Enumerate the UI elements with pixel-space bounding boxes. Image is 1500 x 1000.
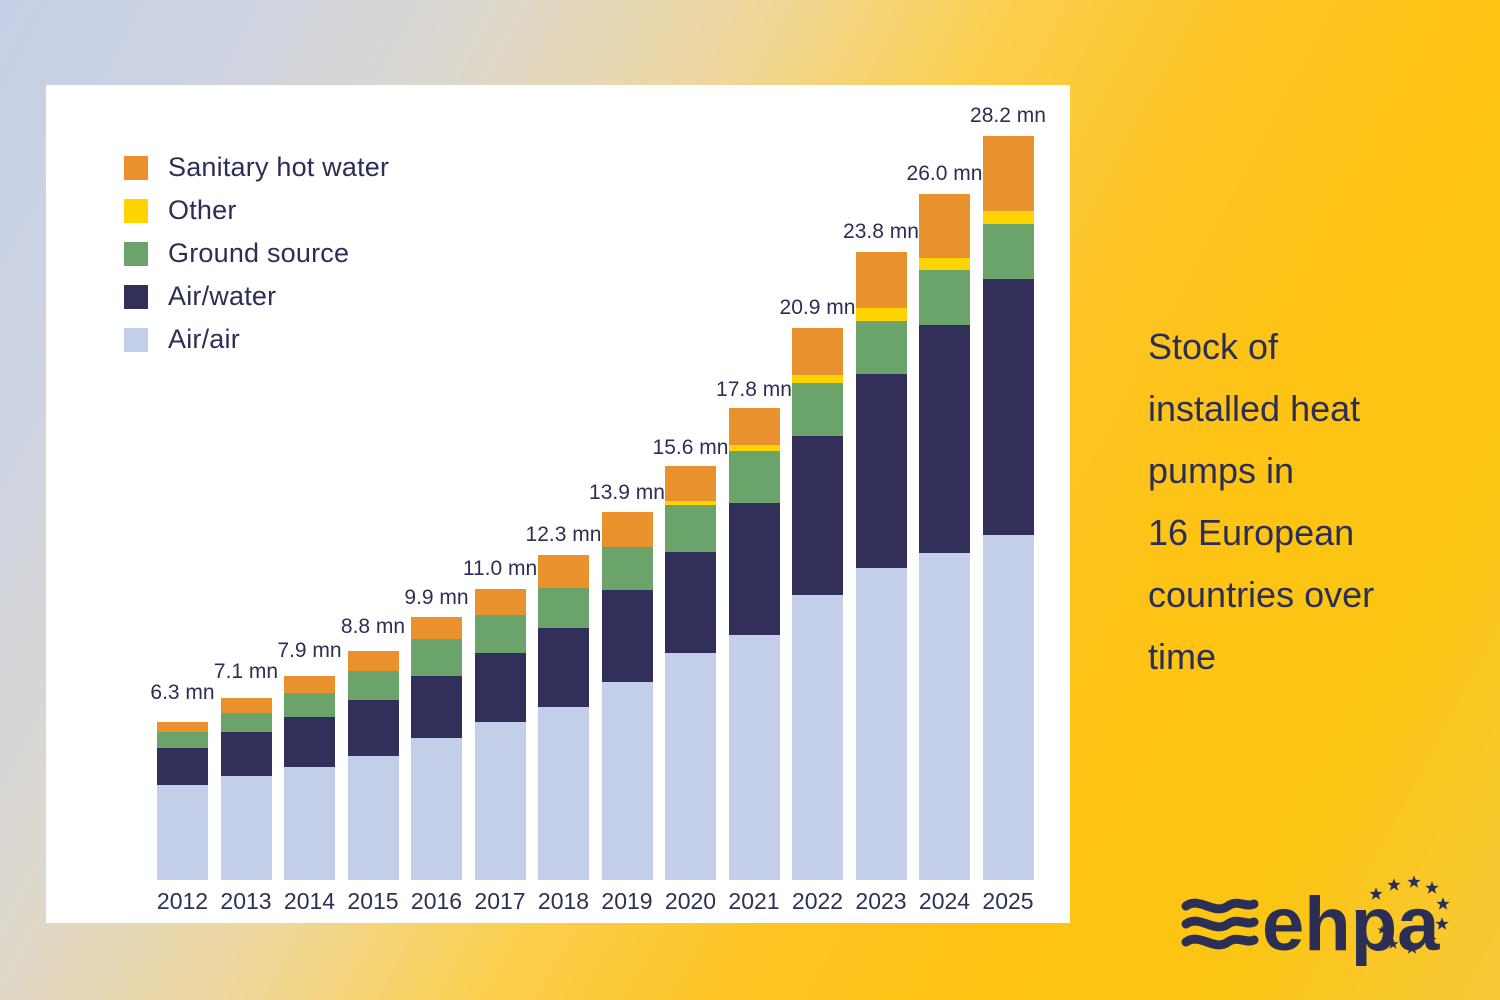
legend-swatch-icon	[124, 328, 148, 352]
bar-segment-other	[919, 258, 970, 270]
x-axis-label-2014: 2014	[275, 888, 345, 915]
infographic-title: Stock ofinstalled heatpumps in16 Europea…	[1148, 316, 1458, 687]
legend-item-air-water[interactable]: Air/water	[124, 275, 389, 318]
bar-segment-air-air	[475, 722, 526, 880]
bar-segment-sanitary-hot-water	[792, 328, 843, 375]
bar-segment-air-water	[919, 325, 970, 553]
bar-segment-sanitary-hot-water	[157, 722, 208, 733]
legend-item-label: Sanitary hot water	[168, 152, 389, 183]
x-axis-label-2012: 2012	[148, 888, 218, 915]
bar-segment-sanitary-hot-water	[538, 555, 589, 588]
bar-segment-other	[729, 445, 780, 450]
bar-segment-air-air	[284, 767, 335, 880]
bar-total-label-2025: 28.2 mn	[943, 104, 1073, 128]
bar-segment-air-water	[157, 748, 208, 785]
bar-segment-ground-source	[729, 451, 780, 504]
bar-2023[interactable]	[856, 85, 907, 880]
x-axis-label-2021: 2021	[719, 888, 789, 915]
title-line: 16 European	[1148, 502, 1458, 564]
bar-segment-ground-source	[348, 671, 399, 700]
bar-segment-ground-source	[602, 547, 653, 590]
bar-segment-sanitary-hot-water	[284, 676, 335, 693]
infographic-canvas: 6.3 mn20127.1 mn20137.9 mn20148.8 mn2015…	[0, 0, 1500, 1000]
bar-segment-air-water	[348, 700, 399, 757]
bar-segment-air-air	[538, 707, 589, 880]
bar-segment-air-air	[665, 653, 716, 880]
bar-segment-sanitary-hot-water	[729, 408, 780, 445]
legend-item-other[interactable]: Other	[124, 189, 389, 232]
x-axis-label-2018: 2018	[529, 888, 599, 915]
title-line: pumps in	[1148, 440, 1458, 502]
legend-item-label: Air/air	[168, 324, 240, 355]
bar-segment-air-water	[475, 653, 526, 722]
x-axis-label-2015: 2015	[338, 888, 408, 915]
legend-swatch-icon	[124, 156, 148, 180]
legend-item-label: Other	[168, 195, 237, 226]
bar-segment-air-air	[919, 553, 970, 880]
bar-segment-air-water	[411, 676, 462, 738]
bar-segment-ground-source	[792, 383, 843, 436]
x-axis-label-2023: 2023	[846, 888, 916, 915]
bar-segment-other	[856, 308, 907, 321]
x-axis-label-2020: 2020	[656, 888, 726, 915]
bar-segment-sanitary-hot-water	[475, 589, 526, 615]
bar-segment-ground-source	[221, 713, 272, 733]
bar-segment-sanitary-hot-water	[411, 617, 462, 639]
legend-swatch-icon	[124, 242, 148, 266]
bar-segment-ground-source	[284, 693, 335, 717]
bar-segment-other	[792, 375, 843, 383]
bar-segment-sanitary-hot-water	[348, 651, 399, 671]
bar-segment-air-air	[856, 568, 907, 880]
bar-2020[interactable]	[665, 85, 716, 880]
legend-swatch-icon	[124, 285, 148, 309]
bar-segment-air-water	[284, 717, 335, 767]
bar-segment-air-water	[792, 436, 843, 595]
bar-segment-sanitary-hot-water	[665, 466, 716, 500]
title-line: installed heat	[1148, 378, 1458, 440]
bar-2017[interactable]	[475, 85, 526, 880]
bar-segment-air-water	[983, 279, 1034, 535]
title-line: time	[1148, 626, 1458, 688]
bar-segment-ground-source	[475, 615, 526, 653]
wave-icon	[1186, 903, 1254, 945]
bar-segment-air-air	[729, 635, 780, 880]
bar-segment-sanitary-hot-water	[856, 252, 907, 309]
bar-segment-air-air	[792, 595, 843, 880]
bar-segment-ground-source	[157, 732, 208, 748]
bar-segment-air-water	[538, 628, 589, 707]
bar-segment-sanitary-hot-water	[602, 512, 653, 546]
bar-segment-sanitary-hot-water	[919, 194, 970, 259]
bar-segment-air-air	[348, 756, 399, 880]
bar-segment-ground-source	[856, 321, 907, 374]
bar-2024[interactable]	[919, 85, 970, 880]
x-axis-label-2013: 2013	[211, 888, 281, 915]
x-axis-label-2024: 2024	[910, 888, 980, 915]
legend-item-ground-source[interactable]: Ground source	[124, 232, 389, 275]
bar-segment-air-air	[602, 682, 653, 880]
bar-segment-air-air	[411, 738, 462, 880]
ehpa-wordmark: ehpa	[1262, 882, 1440, 967]
title-line: countries over	[1148, 564, 1458, 626]
legend-item-sanitary-hot-water[interactable]: Sanitary hot water	[124, 146, 389, 189]
bar-2025[interactable]	[983, 85, 1034, 880]
ehpa-logo: ehpa	[1180, 868, 1450, 968]
bar-segment-ground-source	[665, 505, 716, 552]
bar-segment-air-air	[221, 776, 272, 880]
bar-2022[interactable]	[792, 85, 843, 880]
bar-segment-air-water	[856, 374, 907, 568]
bar-segment-other	[665, 501, 716, 505]
bar-segment-ground-source	[983, 224, 1034, 279]
bar-segment-air-water	[221, 732, 272, 775]
bar-segment-ground-source	[411, 639, 462, 676]
bar-segment-air-water	[665, 552, 716, 653]
bar-segment-ground-source	[538, 588, 589, 629]
x-axis-label-2025: 2025	[973, 888, 1043, 915]
x-axis-label-2022: 2022	[783, 888, 853, 915]
legend-item-label: Air/water	[168, 281, 276, 312]
bar-segment-ground-source	[919, 270, 970, 325]
x-axis-label-2019: 2019	[592, 888, 662, 915]
bar-segment-air-air	[157, 785, 208, 880]
title-line: Stock of	[1148, 316, 1458, 378]
bar-segment-other	[983, 211, 1034, 224]
bar-2016[interactable]	[411, 85, 462, 880]
bar-segment-sanitary-hot-water	[221, 698, 272, 712]
legend-swatch-icon	[124, 199, 148, 223]
x-axis-label-2016: 2016	[402, 888, 472, 915]
bar-2021[interactable]	[729, 85, 780, 880]
bar-segment-sanitary-hot-water	[983, 136, 1034, 211]
bar-segment-air-air	[983, 535, 1034, 880]
chart-legend: Sanitary hot waterOtherGround sourceAir/…	[124, 146, 389, 361]
bar-segment-air-water	[729, 503, 780, 635]
legend-item-air-air[interactable]: Air/air	[124, 318, 389, 361]
bar-segment-air-water	[602, 590, 653, 682]
x-axis-label-2017: 2017	[465, 888, 535, 915]
legend-item-label: Ground source	[168, 238, 349, 269]
